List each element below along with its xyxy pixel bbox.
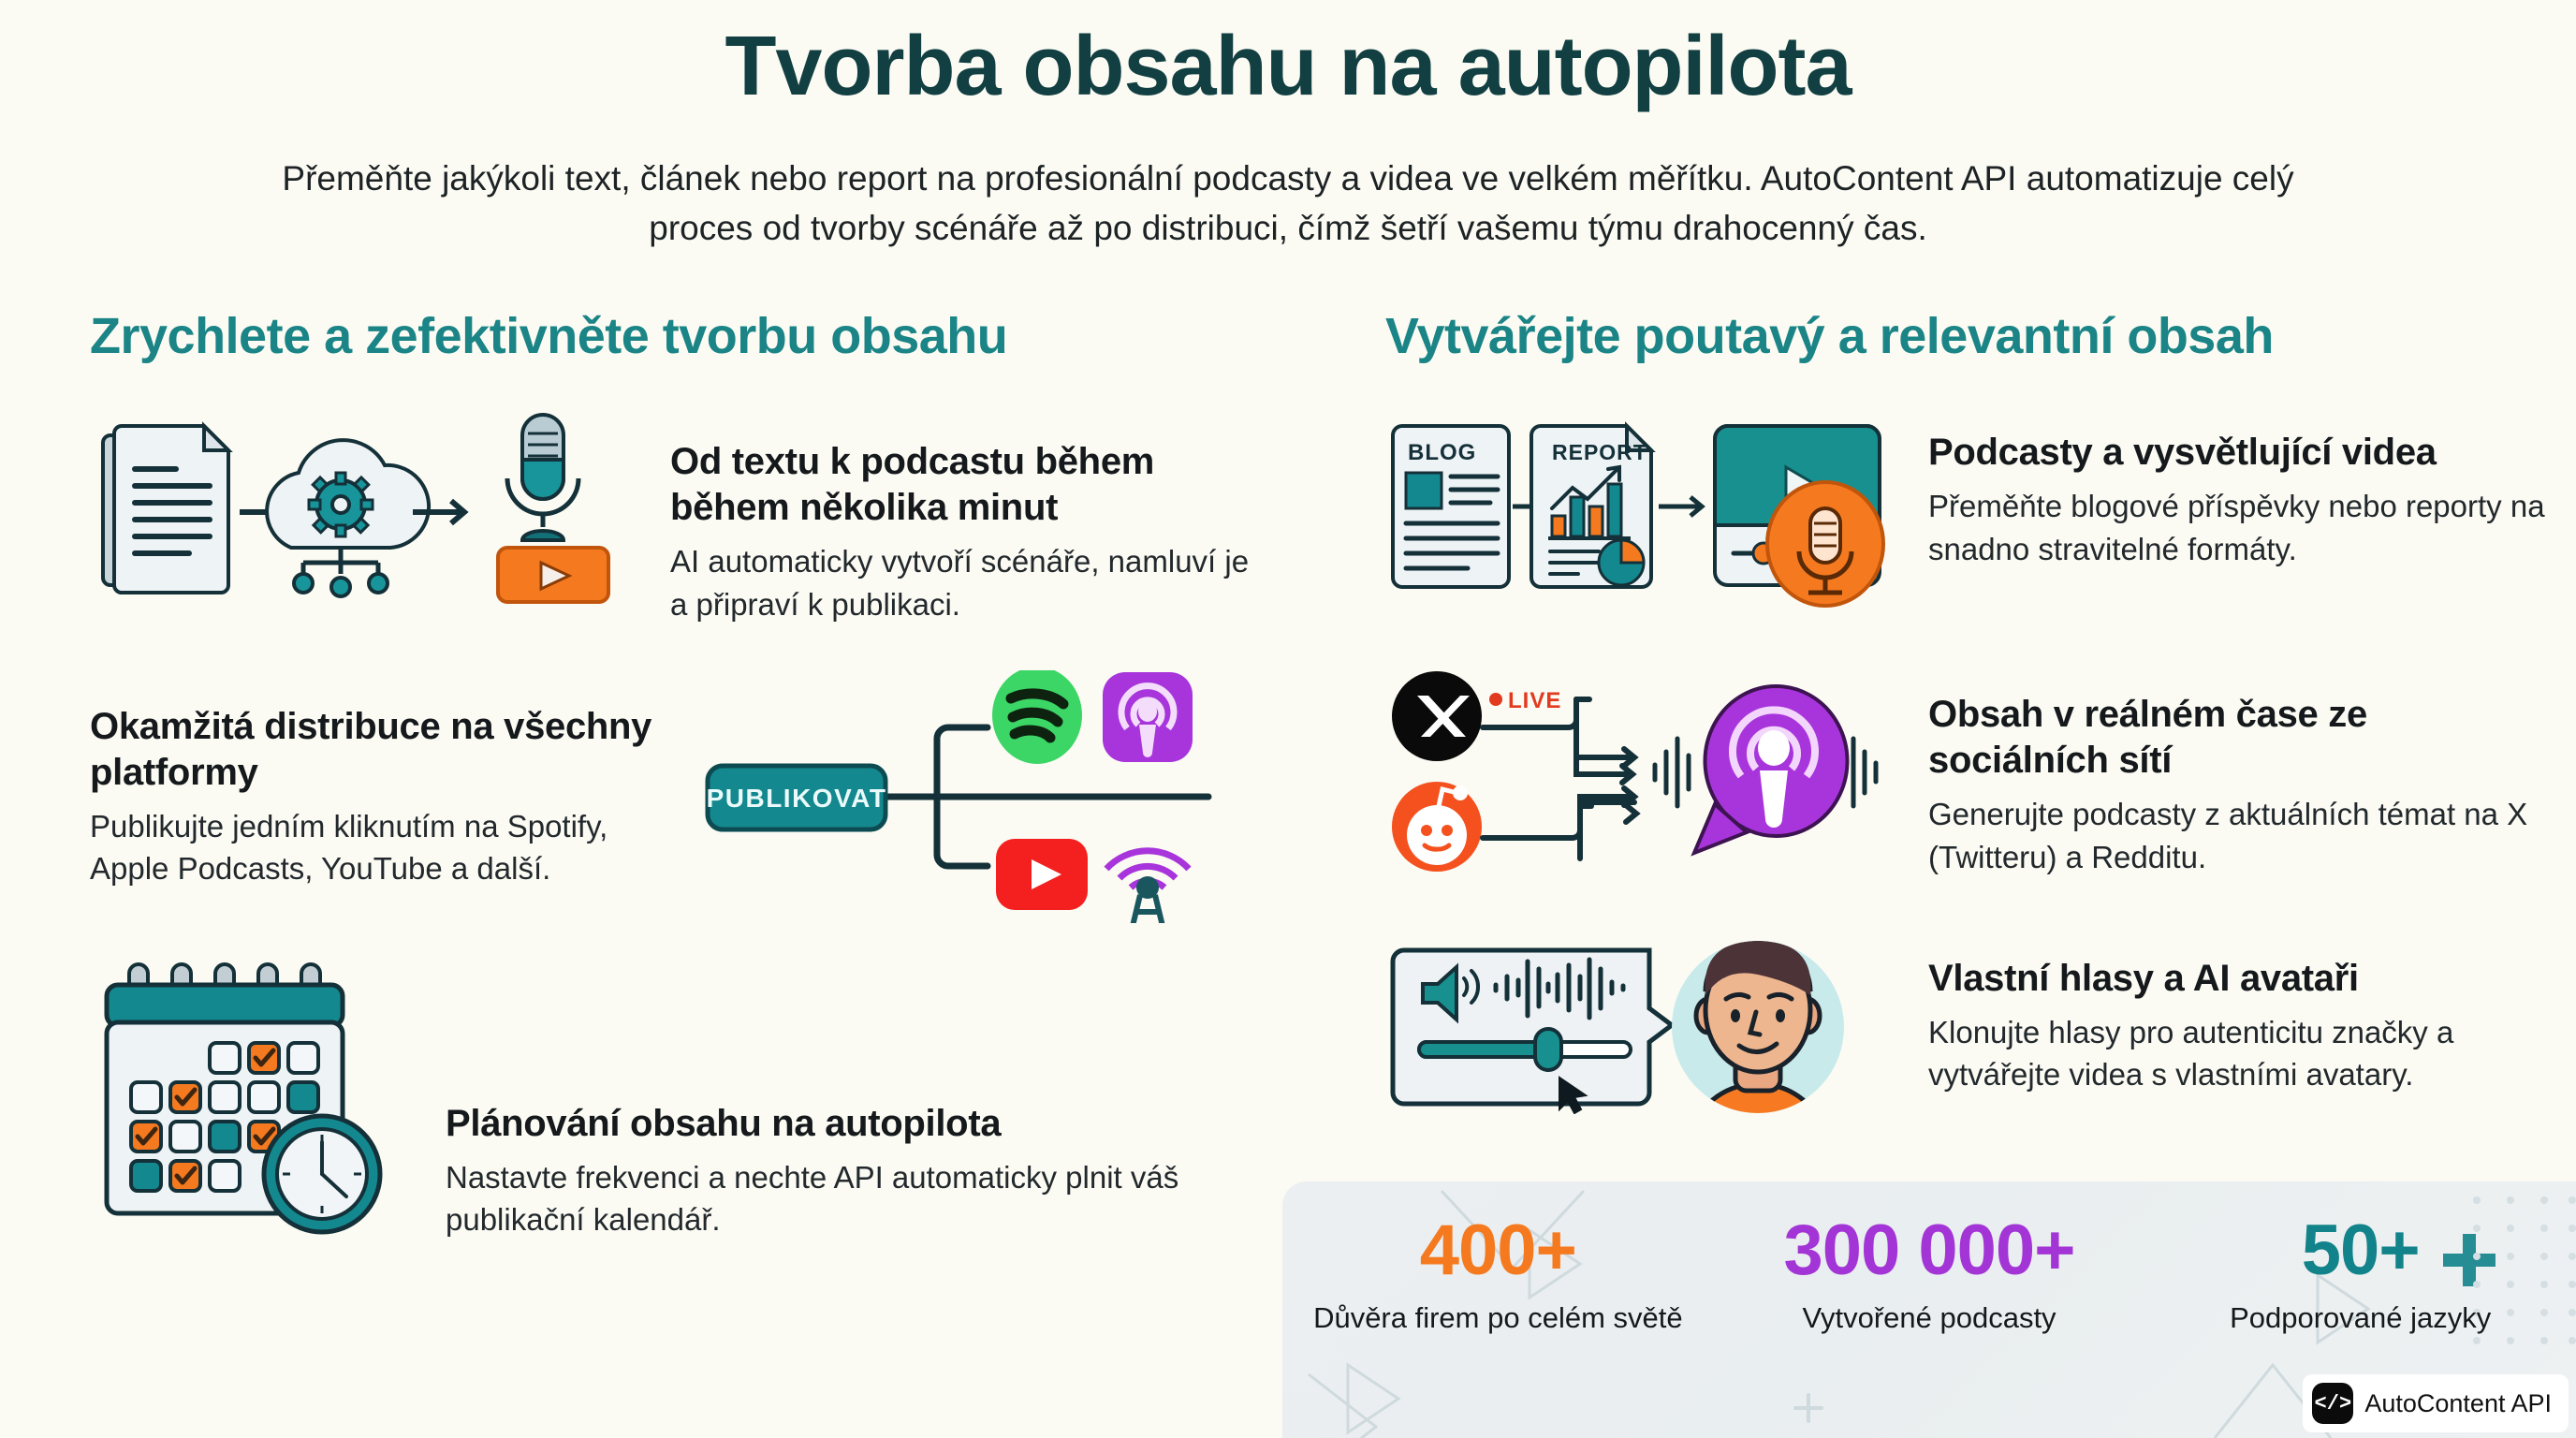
stat-value: 50+ <box>2144 1215 2576 1286</box>
feature-title: Plánování obsahu na autopilota <box>446 1101 1269 1147</box>
microphone-badge-icon <box>1767 482 1883 606</box>
pie-chart-icon <box>1599 540 1644 585</box>
stat-companies: 400+ Důvěra firem po celém světě <box>1282 1215 1714 1337</box>
feature-title: Okamžitá distribuce na všechny platformy <box>90 704 689 796</box>
feature-body: Generujte podcasty z aktuálních témat na… <box>1928 793 2546 878</box>
podcast-bubble-icon <box>1694 686 1848 853</box>
reddit-icon <box>1392 782 1482 872</box>
feature-title: Od textu k podcastu během během několika… <box>670 439 1269 531</box>
report-document-icon: REPORT <box>1531 426 1651 587</box>
feature-body: Publikujte jedním kliknutím na Spotify, … <box>90 805 689 890</box>
social-to-podcast-illustration: LIVE <box>1385 671 1910 873</box>
left-column: Zrychlete a zefektivněte tvorbu obsahu <box>90 309 1297 1241</box>
feature-realtime-social: LIVE <box>1385 664 2574 878</box>
microphone-icon <box>507 415 578 540</box>
calendar-icon <box>107 964 380 1232</box>
code-brackets-icon: </> <box>2312 1383 2353 1424</box>
stat-label: Vytvořené podcasty <box>1714 1299 2145 1337</box>
stat-label: Podporované jazyky <box>2144 1299 2576 1337</box>
feature-body: Klonujte hlasy pro autenticitu značky a … <box>1928 1011 2546 1096</box>
apple-podcasts-icon <box>1103 672 1193 762</box>
feature-title: Vlastní hlasy a AI avataři <box>1928 956 2546 1002</box>
right-column: Vytvářejte poutavý a relevantní obsah BL… <box>1385 309 2574 1114</box>
blog-document-icon: BLOG <box>1393 426 1509 587</box>
feature-text: Plánování obsahu na autopilota Nastavte … <box>408 970 1269 1241</box>
feature-body: Nastavte frekvenci a nechte API automati… <box>446 1156 1269 1241</box>
feature-body: AI automaticky vytvoří scénáře, namluví … <box>670 540 1269 625</box>
right-column-heading: Vytvářejte poutavý a relevantní obsah <box>1385 309 2574 364</box>
play-button-icon <box>498 548 608 602</box>
blog-report-to-video-illustration: BLOG <box>1385 411 1910 608</box>
feature-text: Vlastní hlasy a AI avataři Klonujte hlas… <box>1910 930 2546 1096</box>
feature-text: Obsah v reálném čase ze sociálních sítí … <box>1910 664 2546 878</box>
spotify-icon <box>992 670 1082 764</box>
clock-icon <box>264 1116 380 1232</box>
feature-text: Od textu k podcastu během během několika… <box>670 402 1269 625</box>
calendar-illustration <box>90 961 408 1241</box>
feature-instant-distribution: Okamžitá distribuce na všechny platformy… <box>90 680 1297 923</box>
brand-name: AutoContent API <box>2364 1389 2552 1418</box>
feature-text: Podcasty a vysvětlující videa Přeměňte b… <box>1910 402 2546 570</box>
distribution-illustration: PUBLIKOVAT <box>698 670 1260 923</box>
youtube-icon <box>996 839 1088 910</box>
stats-panel: 400+ Důvěra firem po celém světě 300 000… <box>1282 1181 2576 1438</box>
report-label: REPORT <box>1552 440 1647 464</box>
avatar <box>1672 941 1844 1114</box>
page-title: Tvorba obsahu na autopilota <box>0 22 2576 111</box>
broadcast-tower-icon <box>1106 851 1189 923</box>
stat-podcasts: 300 000+ Vytvořené podcasty <box>1714 1215 2145 1337</box>
feature-text-to-podcast: Od textu k podcastu během během několika… <box>90 402 1297 625</box>
brand-badge[interactable]: </> AutoContent API <box>2303 1374 2569 1432</box>
publish-button: PUBLIKOVAT <box>707 766 887 829</box>
left-column-heading: Zrychlete a zefektivněte tvorbu obsahu <box>90 309 1297 364</box>
feature-text: Okamžitá distribuce na všechny platformy… <box>90 680 689 890</box>
voice-avatar-illustration <box>1385 941 1910 1114</box>
feature-podcasts-videos: BLOG <box>1385 402 2574 608</box>
feature-title: Podcasty a vysvětlující videa <box>1928 430 2546 476</box>
stat-label: Důvěra firem po celém světě <box>1282 1299 1714 1337</box>
blog-label: BLOG <box>1408 440 1476 465</box>
feature-title: Obsah v reálném čase ze sociálních sítí <box>1928 692 2546 784</box>
stat-value: 400+ <box>1282 1215 1714 1286</box>
stat-value: 300 000+ <box>1714 1215 2145 1286</box>
voice-settings-panel <box>1393 950 1672 1113</box>
feature-content-scheduling: Plánování obsahu na autopilota Nastavte … <box>90 970 1297 1241</box>
live-label: LIVE <box>1508 688 1561 713</box>
publish-button-label: PUBLIKOVAT <box>707 784 887 813</box>
feature-voices-avatars: Vlastní hlasy a AI avataři Klonujte hlas… <box>1385 930 2574 1114</box>
page-subtitle: Přeměňte jakýkoli text, článek nebo repo… <box>268 154 2308 253</box>
infographic-page: Tvorba obsahu na autopilota Přeměňte jak… <box>0 0 2576 1438</box>
document-icon <box>103 426 228 593</box>
live-badge: LIVE <box>1489 688 1561 713</box>
feature-body: Přeměňte blogové příspěvky nebo reporty … <box>1928 485 2546 570</box>
text-to-podcast-illustration <box>90 407 670 604</box>
x-twitter-icon <box>1392 671 1482 761</box>
cloud-gear-icon <box>267 441 429 597</box>
stat-languages: 50+ Podporované jazyky <box>2144 1215 2576 1337</box>
